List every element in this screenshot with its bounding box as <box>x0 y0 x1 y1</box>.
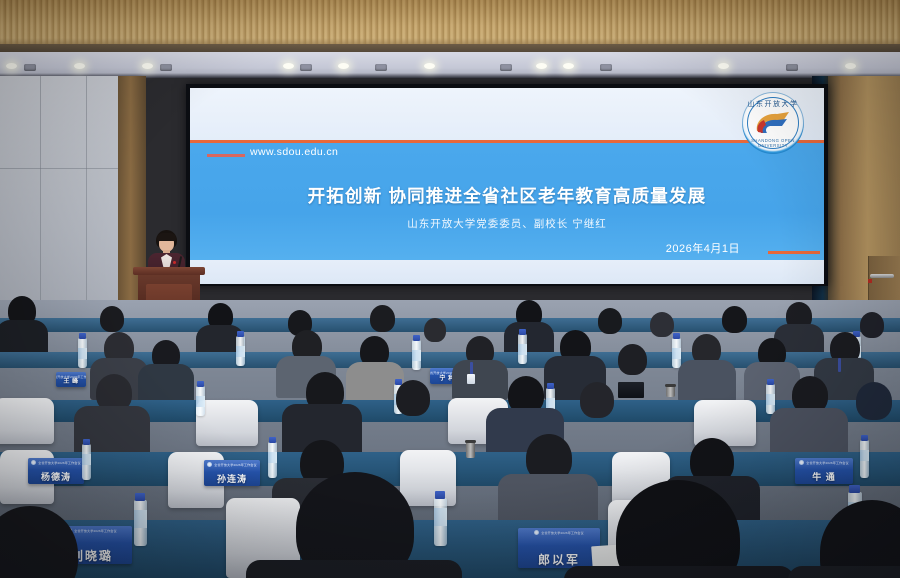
downlight-icon <box>563 63 574 69</box>
attendee-torso <box>678 360 736 402</box>
water-bottle <box>268 442 277 478</box>
thermos-cup <box>666 386 675 397</box>
presenter-lapel-pin <box>173 261 176 264</box>
placard-gloss <box>795 458 853 470</box>
slide-url: www.sdou.edu.cn <box>250 146 338 158</box>
podium-top <box>133 267 205 275</box>
attendee-head <box>580 382 614 418</box>
attendee-torso <box>138 364 194 404</box>
water-bottle <box>412 340 421 370</box>
slide-date: 2026年4月1日 <box>666 240 740 256</box>
attendee-head <box>722 306 747 333</box>
water-bottle <box>82 444 91 480</box>
attendee-head <box>370 305 395 332</box>
attendee-head <box>860 312 884 338</box>
door-red-marker <box>868 279 872 283</box>
ceiling-vent <box>375 64 387 71</box>
attendee-head <box>598 308 622 334</box>
door-handle-icon[interactable] <box>870 274 894 278</box>
water-bottle <box>434 498 447 546</box>
water-bottle <box>236 336 245 366</box>
ceiling-vent <box>160 64 172 71</box>
attendee-head <box>856 382 892 420</box>
attendee-torso <box>504 322 554 356</box>
seal-en-text: SHANDONG OPEN UNIVERSITY <box>742 138 804 148</box>
attendee-head <box>424 318 446 342</box>
water-bottle <box>196 386 205 416</box>
downlight-icon <box>424 63 435 69</box>
placard-name: 王 峰 <box>63 379 78 387</box>
attendee-torso <box>788 566 900 578</box>
name-placard: 全省开放大学2026年工作会议 牛 通 <box>795 458 853 484</box>
chair <box>196 400 258 446</box>
university-seal-icon: 山东开放大学 SHANDONG OPEN UNIVERSITY <box>742 92 804 154</box>
seal-emblem-icon <box>753 109 793 137</box>
placard-gloss <box>204 460 260 472</box>
placard-gloss <box>28 458 84 470</box>
name-placard: 全省开放大学2026年工作会议 孙连涛 <box>204 460 260 486</box>
water-bottle <box>518 334 527 364</box>
slide-date-dash <box>768 251 820 254</box>
slide-subtitle: 山东开放大学党委委员、副校长 宁继红 <box>190 216 824 231</box>
water-bottle <box>860 440 869 478</box>
name-placard: 全省开放大学2026年工作会议 王 峰 <box>56 372 86 387</box>
water-bottle <box>672 338 681 368</box>
ceiling-soffit <box>0 52 900 78</box>
slide-top-band <box>190 88 824 140</box>
seal-cn-text: 山东开放大学 <box>742 99 804 109</box>
name-placard: 全省开放大学2026年工作会议 杨德涛 <box>28 458 84 484</box>
water-bottle <box>134 500 147 546</box>
attendee-head <box>396 380 430 416</box>
attendee-head <box>100 306 124 332</box>
slide-bottom-band <box>190 260 824 284</box>
table-row <box>0 318 900 332</box>
downlight-icon <box>338 63 349 69</box>
ceiling-vent <box>24 64 36 71</box>
downlight-icon <box>283 63 294 69</box>
chair <box>400 450 456 506</box>
placard-name: 牛 通 <box>812 473 836 484</box>
downlight-icon <box>6 63 17 69</box>
chair <box>0 398 54 444</box>
attendee-head <box>650 312 674 337</box>
conference-photo: www.sdou.edu.cn 开拓创新 协同推进全省社区老年教育高质量发展 山… <box>0 0 900 578</box>
presentation-slide: www.sdou.edu.cn 开拓创新 协同推进全省社区老年教育高质量发展 山… <box>190 88 824 284</box>
right-wood-wall <box>828 76 900 326</box>
ceiling-vent <box>500 64 512 71</box>
placard-name: 杨德涛 <box>41 473 71 484</box>
water-bottle <box>78 338 87 368</box>
placard-gloss <box>518 528 600 546</box>
badge <box>467 374 475 384</box>
attendee-head <box>618 344 647 375</box>
attendee-torso <box>564 566 794 578</box>
slide-title: 开拓创新 协同推进全省社区老年教育高质量发展 <box>190 183 824 208</box>
attendee-torso <box>246 560 462 578</box>
downlight-icon <box>74 63 85 69</box>
name-placard: 全省开放大学2026年工作会议 郎以军 <box>518 528 600 568</box>
laptop[interactable] <box>618 382 644 398</box>
presenter-fringe <box>157 233 176 241</box>
attendee-torso <box>770 408 848 458</box>
slide-url-dash <box>207 154 245 157</box>
left-wall-panel <box>0 76 120 326</box>
wood-slat-ceiling <box>0 0 900 46</box>
lanyard <box>838 358 841 372</box>
attendee-torso <box>452 360 508 400</box>
thermos-cup <box>466 442 475 458</box>
downlight-icon <box>718 63 729 69</box>
downlight-icon <box>142 63 153 69</box>
ceiling-vent <box>786 64 798 71</box>
placard-gloss <box>56 372 86 379</box>
ceiling-vent <box>300 64 312 71</box>
water-bottle <box>766 384 775 414</box>
downlight-icon <box>845 63 856 69</box>
ceiling-vent <box>600 64 612 71</box>
placard-name: 孙连涛 <box>217 475 247 486</box>
downlight-icon <box>536 63 547 69</box>
